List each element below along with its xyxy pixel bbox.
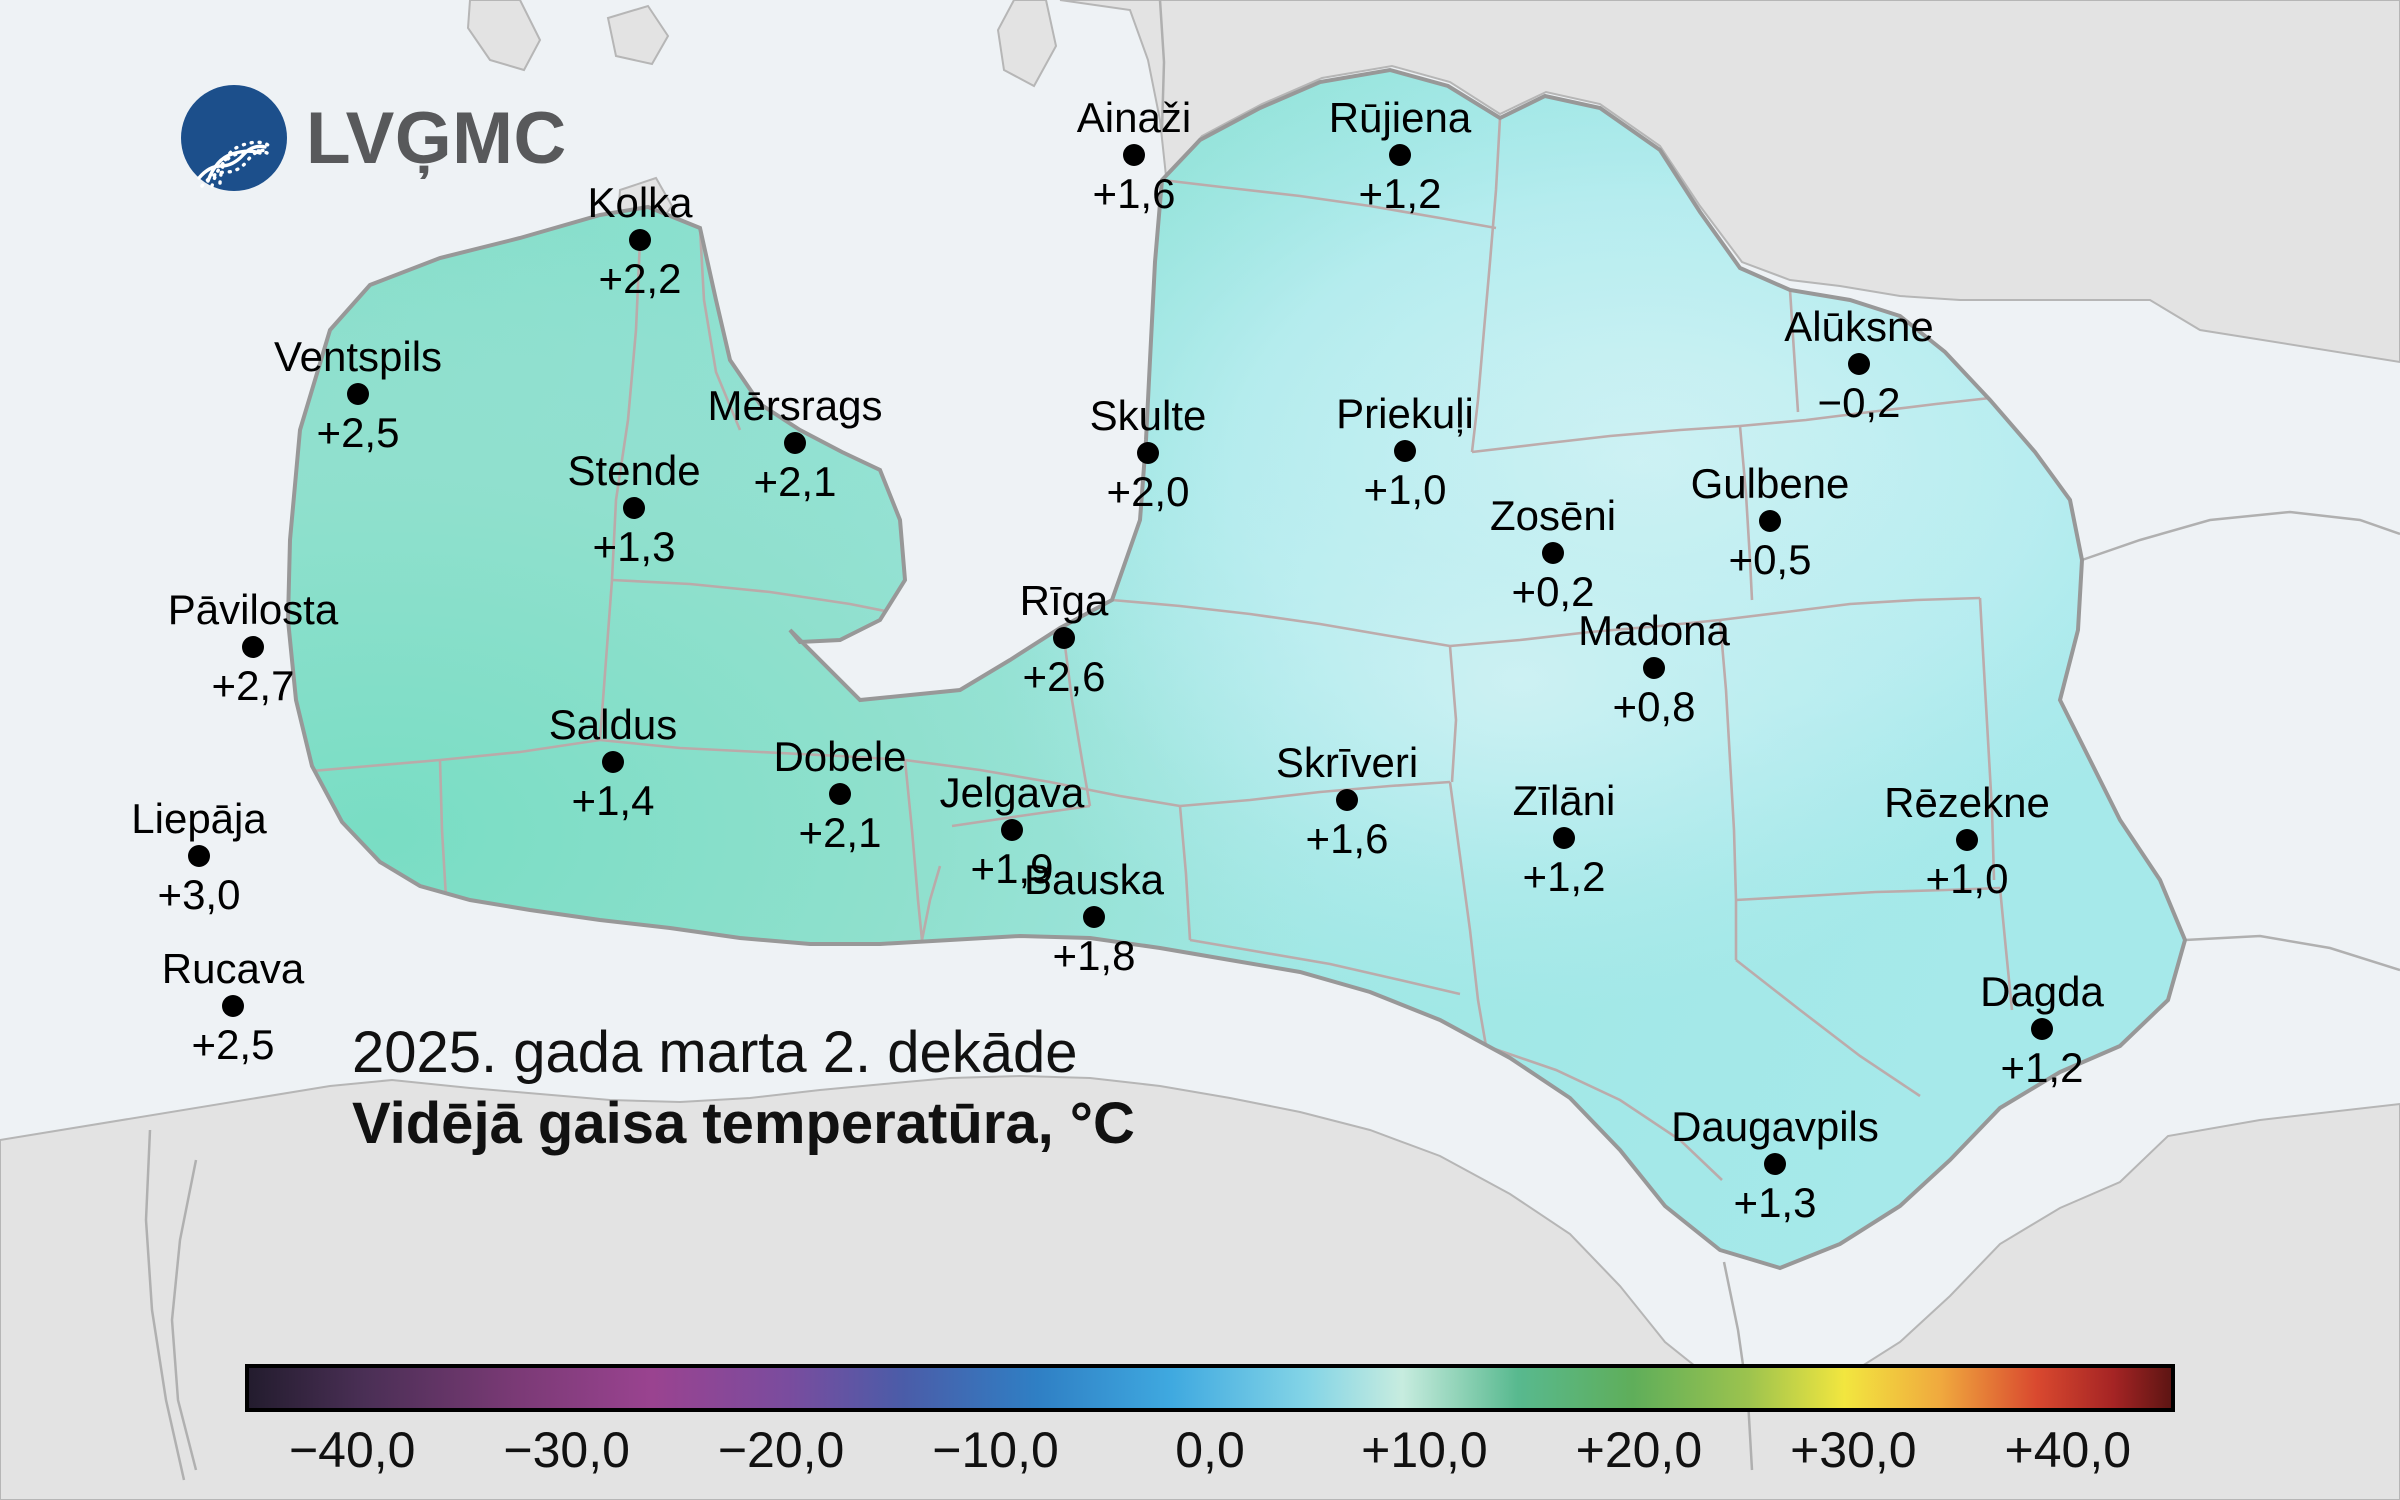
station-value: +1,3 — [593, 526, 676, 568]
station-dot-icon — [1759, 510, 1781, 532]
station-dot-icon — [623, 497, 645, 519]
station-name: Dagda — [1980, 971, 2104, 1013]
station-dot-icon — [1137, 442, 1159, 464]
station-value: +1,2 — [2001, 1047, 2084, 1089]
station-value: +1,2 — [1523, 856, 1606, 898]
map-title: Vidējā gaisa temperatūra, °C — [352, 1089, 1135, 1160]
station-dot-icon — [242, 636, 264, 658]
station-value: +2,1 — [799, 812, 882, 854]
colorbar-tick: −20,0 — [718, 1420, 845, 1480]
colorbar-tick: −10,0 — [932, 1420, 1059, 1480]
station-value: +2,5 — [192, 1024, 275, 1066]
station-name: Skrīveri — [1276, 742, 1418, 784]
station-dot-icon — [1389, 144, 1411, 166]
station-dot-icon — [1053, 627, 1075, 649]
map-period-label: 2025. gada marta 2. dekāde — [352, 1018, 1135, 1089]
temperature-colorbar: −40,0−30,0−20,0−10,00,0+10,0+20,0+30,0+4… — [245, 1364, 2175, 1488]
station-name: Liepāja — [131, 798, 266, 840]
colorbar-tick: +40,0 — [2005, 1420, 2132, 1480]
station-value: +1,8 — [1053, 935, 1136, 977]
station-value: +1,0 — [1926, 858, 2009, 900]
colorbar-tick: +10,0 — [1361, 1420, 1488, 1480]
station-name: Pāvilosta — [168, 589, 338, 631]
station-dot-icon — [222, 995, 244, 1017]
colorbar-tick-labels: −40,0−30,0−20,0−10,00,0+10,0+20,0+30,0+4… — [245, 1420, 2175, 1488]
station-name: Saldus — [549, 704, 677, 746]
station-name: Rīga — [1020, 580, 1109, 622]
station-dot-icon — [1336, 789, 1358, 811]
station-name: Ainaži — [1077, 97, 1191, 139]
station-value: +2,7 — [212, 665, 295, 707]
station-value: +2,0 — [1107, 471, 1190, 513]
station-name: Rēzekne — [1884, 782, 2050, 824]
station-name: Rucava — [162, 948, 304, 990]
station-value: +0,5 — [1729, 539, 1812, 581]
station-value: +1,4 — [572, 780, 655, 822]
station-dot-icon — [602, 751, 624, 773]
station-name: Zosēni — [1490, 495, 1616, 537]
station-value: +1,0 — [1364, 469, 1447, 511]
station-dot-icon — [1553, 827, 1575, 849]
station-name: Rūjiena — [1329, 97, 1471, 139]
map-title-block: 2025. gada marta 2. dekāde Vidējā gaisa … — [352, 1018, 1135, 1160]
station-name: Mērsrags — [707, 385, 882, 427]
station-value: +2,1 — [754, 461, 837, 503]
station-name: Dobele — [773, 736, 906, 778]
station-dot-icon — [784, 432, 806, 454]
station-value: +2,2 — [599, 258, 682, 300]
lvgmc-circle-waves-icon — [178, 82, 290, 194]
station-dot-icon — [1956, 829, 1978, 851]
station-value: +1,6 — [1306, 818, 1389, 860]
station-name: Alūksne — [1784, 306, 1933, 348]
station-name: Daugavpils — [1671, 1106, 1879, 1148]
station-dot-icon — [629, 229, 651, 251]
station-name: Bauska — [1024, 859, 1164, 901]
station-name: Gulbene — [1691, 463, 1850, 505]
station-dot-icon — [1848, 353, 1870, 375]
station-value: +3,0 — [158, 874, 241, 916]
station-name: Ventspils — [274, 336, 442, 378]
station-name: Stende — [567, 450, 700, 492]
station-dot-icon — [1542, 542, 1564, 564]
station-value: +1,6 — [1093, 173, 1176, 215]
colorbar-tick: −30,0 — [503, 1420, 630, 1480]
station-dot-icon — [1083, 906, 1105, 928]
station-name: Jelgava — [940, 772, 1085, 814]
colorbar-tick: 0,0 — [1175, 1420, 1245, 1480]
lvgmc-logo: LVĢMC — [178, 82, 567, 194]
station-dot-icon — [347, 383, 369, 405]
station-dot-icon — [1643, 657, 1665, 679]
station-value: +0,8 — [1613, 686, 1696, 728]
station-name: Kolka — [587, 182, 692, 224]
station-dot-icon — [1394, 440, 1416, 462]
station-dot-icon — [1123, 144, 1145, 166]
weather-map-figure: LVĢMC Kolka+2,2Ventspils+2,5Mērsrags+2,1… — [0, 0, 2400, 1500]
station-name: Skulte — [1090, 395, 1207, 437]
station-value: +1,2 — [1359, 173, 1442, 215]
station-dot-icon — [1001, 819, 1023, 841]
station-name: Priekuļi — [1336, 393, 1474, 435]
colorbar-gradient — [245, 1364, 2175, 1412]
station-dot-icon — [188, 845, 210, 867]
colorbar-tick: +20,0 — [1576, 1420, 1703, 1480]
colorbar-tick: +30,0 — [1790, 1420, 1917, 1480]
station-dot-icon — [829, 783, 851, 805]
station-value: +2,6 — [1023, 656, 1106, 698]
station-value: +1,3 — [1734, 1182, 1817, 1224]
station-dot-icon — [2031, 1018, 2053, 1040]
station-dot-icon — [1764, 1153, 1786, 1175]
colorbar-tick: −40,0 — [289, 1420, 416, 1480]
station-value: +2,5 — [317, 412, 400, 454]
station-name: Zīlāni — [1513, 780, 1616, 822]
lvgmc-wordmark: LVĢMC — [306, 102, 567, 175]
station-name: Madona — [1578, 610, 1730, 652]
map-canvas — [0, 0, 2400, 1500]
station-value: −0,2 — [1818, 382, 1901, 424]
